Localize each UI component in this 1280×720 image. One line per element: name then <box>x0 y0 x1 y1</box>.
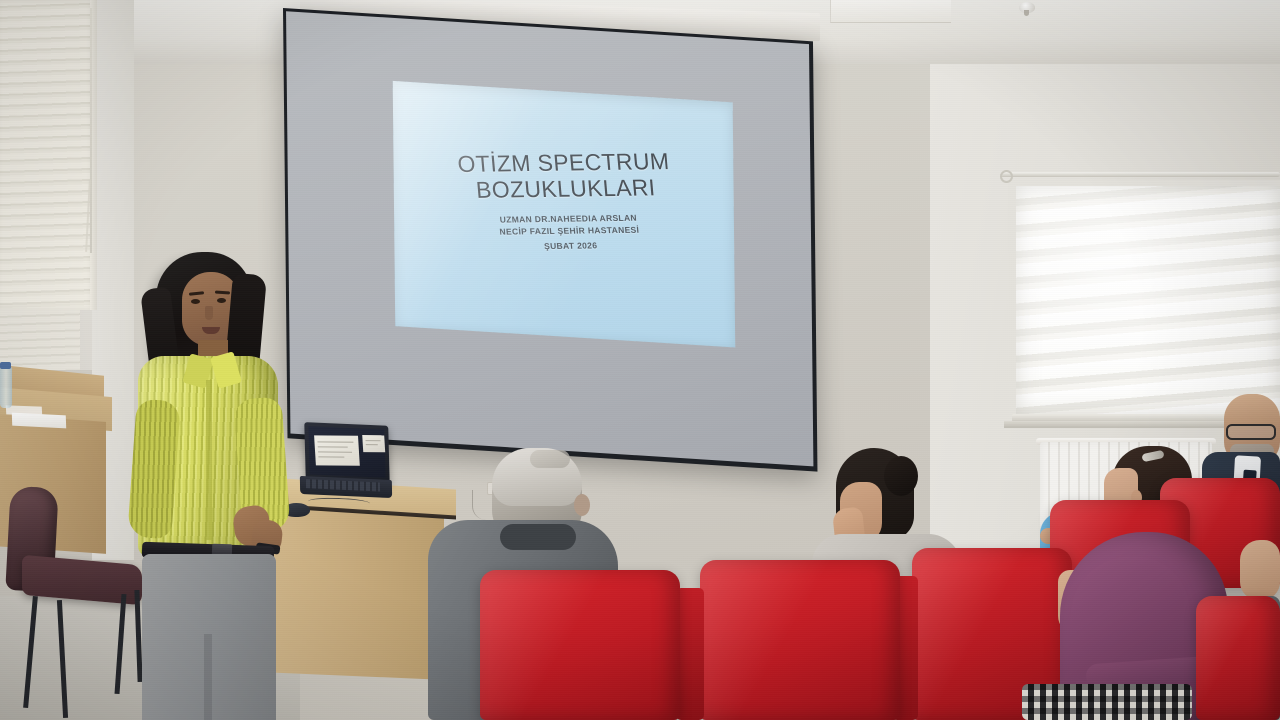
audience-man-grey-crown <box>530 450 570 468</box>
conference-room-photo: OTİZM SPECTRUM BOZUKLUKLARI UZMAN DR.NAH… <box>0 0 1280 720</box>
audience-woman-checked-garment <box>1022 684 1192 720</box>
auditorium-seat[interactable] <box>480 570 680 720</box>
slide-title-line-2: BOZUKLUKLARI <box>475 174 656 203</box>
auditorium-seat[interactable] <box>1196 596 1280 720</box>
presenter <box>120 248 310 720</box>
projected-slide: OTİZM SPECTRUM BOZUKLUKLARI UZMAN DR.NAH… <box>393 81 736 348</box>
screen-surface: OTİZM SPECTRUM BOZUKLUKLARI UZMAN DR.NAH… <box>286 11 813 466</box>
seat-armrest <box>676 588 704 720</box>
laptop[interactable] <box>304 422 389 484</box>
presenter-nose <box>205 306 213 320</box>
projection-screen: OTİZM SPECTRUM BOZUKLUKLARI UZMAN DR.NAH… <box>283 8 817 472</box>
laptop-keyboard[interactable] <box>306 479 380 491</box>
ceiling-panel <box>830 0 951 23</box>
audience-man-grey-collar <box>500 524 576 550</box>
glasses-icon <box>1226 424 1276 440</box>
laptop-notes-panel <box>362 435 385 452</box>
presenter-leg-separation <box>204 634 212 720</box>
slide-subtitle-line-2: NECİP FAZIL ŞEHİR HASTANESİ <box>435 224 703 239</box>
left-window-blinds-lower <box>0 310 80 370</box>
lectern-papers[interactable] <box>12 413 66 429</box>
smoke-detector-icon <box>1019 2 1035 13</box>
curtain-rod-end-icon <box>1000 170 1013 183</box>
water-bottle-cap[interactable] <box>0 362 11 369</box>
laptop-screen <box>308 426 385 477</box>
slide-title: OTİZM SPECTRUM BOZUKLUKLARI <box>417 147 712 203</box>
water-bottle[interactable] <box>0 366 12 408</box>
blind-cord[interactable] <box>90 8 92 253</box>
curtain-rod <box>1000 172 1280 177</box>
right-window-roller-blind <box>1016 186 1280 416</box>
presenter-shirt-placket <box>206 380 212 540</box>
audience-woman-centre-bun <box>884 456 918 496</box>
slide-subtitle-line-3: ŞUBAT 2026 <box>437 239 705 254</box>
laptop-slide-panel <box>314 435 360 465</box>
presenter-eye-left <box>191 299 200 304</box>
auditorium-seat[interactable] <box>700 560 900 720</box>
slide-title-line-1: OTİZM SPECTRUM <box>456 148 670 177</box>
audience-person-right-head <box>1240 540 1280 600</box>
audience-man-grey-ear <box>574 494 590 516</box>
left-window-blinds <box>0 0 95 310</box>
presenter-eye-right <box>217 298 226 303</box>
slide-content: OTİZM SPECTRUM BOZUKLUKLARI UZMAN DR.NAH… <box>393 89 736 339</box>
